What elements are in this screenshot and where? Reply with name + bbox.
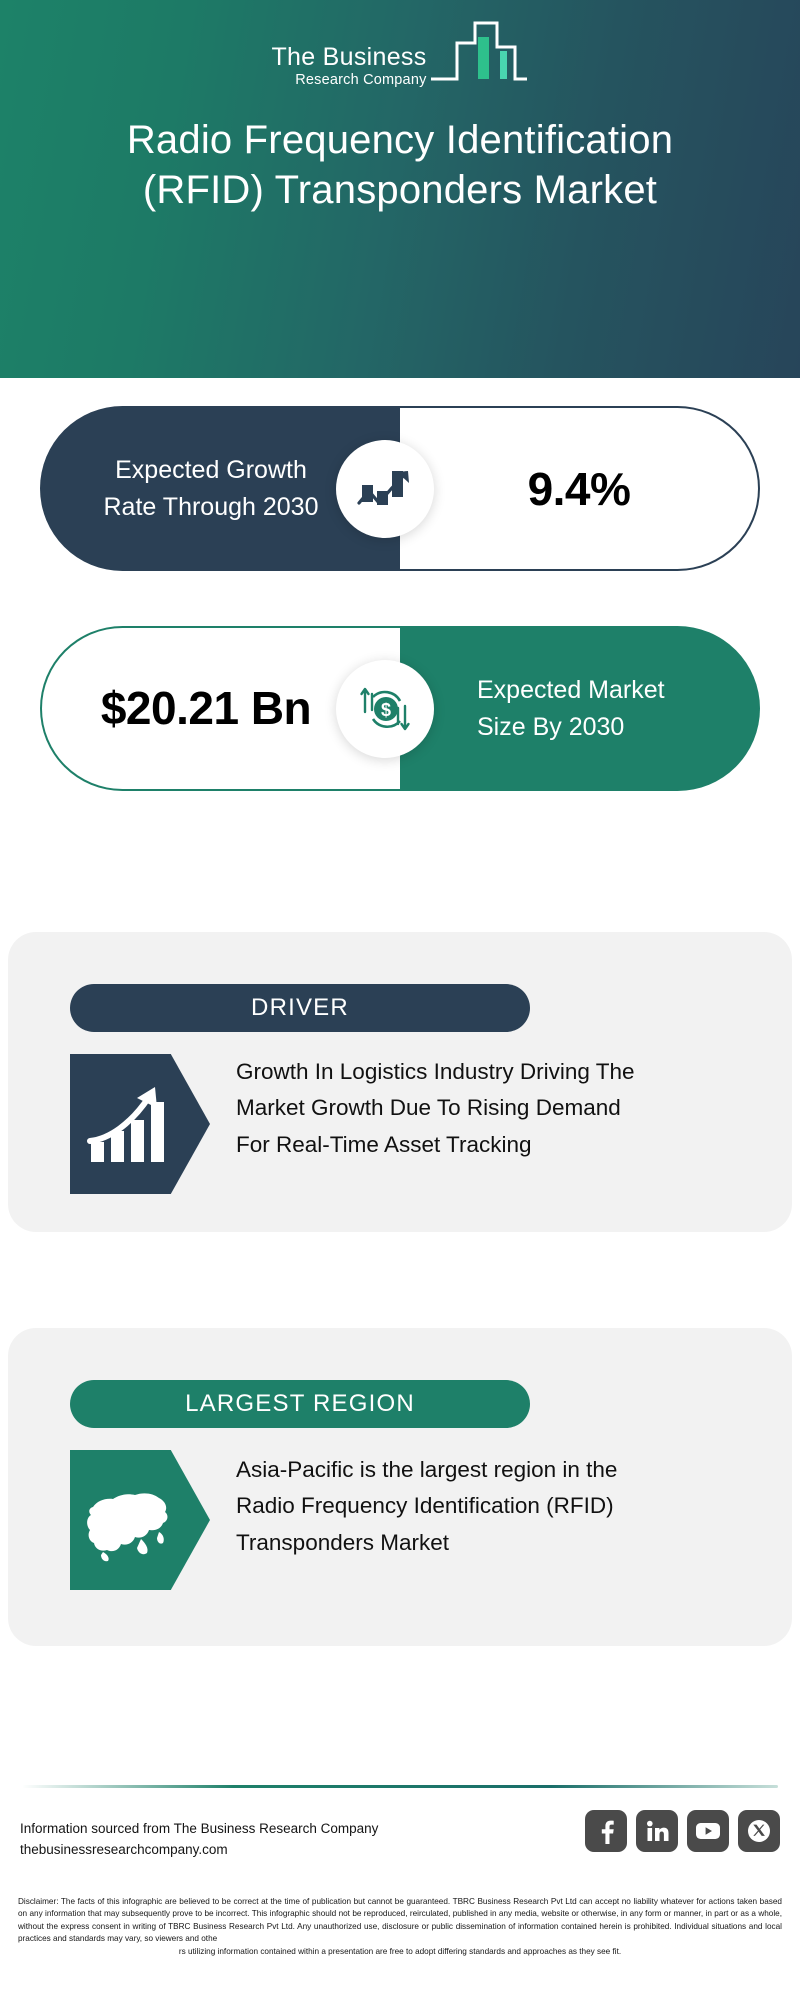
header-banner: The Business Research Company Radio Freq… xyxy=(0,0,800,378)
source-attribution: Information sourced from The Business Re… xyxy=(20,1818,378,1861)
logo-line-1: The Business xyxy=(271,45,426,70)
logo-wordmark: The Business Research Company xyxy=(271,45,426,93)
disclaimer-last-line: rs utilizing information contained withi… xyxy=(18,1946,782,1958)
social-links xyxy=(585,1810,780,1852)
stat-value: $20.21 Bn xyxy=(91,683,321,735)
bar-chart-logo-icon xyxy=(429,19,529,90)
source-website[interactable]: thebusinessresearchcompany.com xyxy=(20,1839,378,1860)
driver-pill: DRIVER xyxy=(70,984,530,1032)
largest-region-panel: LARGEST REGION Asia-Pacific is the large… xyxy=(8,1328,792,1646)
footer-divider xyxy=(22,1785,778,1788)
stat-label: Expected Growth Rate Through 2030 xyxy=(86,452,336,525)
source-line-1: Information sourced from The Business Re… xyxy=(20,1818,378,1839)
linkedin-icon[interactable] xyxy=(636,1810,678,1852)
stat-value-panel: 9.4% xyxy=(400,406,760,571)
stat-label: Expected Market Size By 2030 xyxy=(477,672,717,745)
disclaimer: Disclaimer: The facts of this infographi… xyxy=(18,1896,782,1958)
stat-value: 9.4% xyxy=(528,462,631,516)
driver-pill-label: DRIVER xyxy=(251,994,349,1022)
driver-body: Growth In Logistics Industry Driving The… xyxy=(70,1054,636,1194)
largest-region-pill: LARGEST REGION xyxy=(70,1380,530,1428)
asia-map-icon xyxy=(70,1450,210,1590)
facebook-icon[interactable] xyxy=(585,1810,627,1852)
disclaimer-main: Disclaimer: The facts of this infographi… xyxy=(18,1897,782,1943)
growth-chart-arrow-icon xyxy=(336,440,434,538)
logo-line-2: Research Company xyxy=(295,73,426,88)
stat-card-growth-rate: Expected Growth Rate Through 2030 9.4% xyxy=(40,406,760,571)
stat-card-market-size: $20.21 Bn Expected Market Size By 2030 $ xyxy=(40,626,760,791)
page-title: Radio Frequency Identification (RFID) Tr… xyxy=(70,116,730,215)
driver-panel: DRIVER Growth In Logistics Industry Driv… xyxy=(8,932,792,1232)
youtube-icon[interactable] xyxy=(687,1810,729,1852)
rising-bar-chart-icon xyxy=(70,1054,210,1194)
largest-region-body: Asia-Pacific is the largest region in th… xyxy=(70,1450,636,1590)
dollar-circulation-icon: $ xyxy=(336,660,434,758)
company-logo: The Business Research Company xyxy=(271,22,528,92)
largest-region-pill-label: LARGEST REGION xyxy=(185,1390,415,1418)
infographic-page: The Business Research Company Radio Freq… xyxy=(0,0,800,2000)
largest-region-text: Asia-Pacific is the largest region in th… xyxy=(236,1452,636,1561)
stat-label-panel: Expected Market Size By 2030 xyxy=(400,626,760,791)
driver-text: Growth In Logistics Industry Driving The… xyxy=(236,1054,636,1163)
x-twitter-icon[interactable] xyxy=(738,1810,780,1852)
svg-text:$: $ xyxy=(381,700,391,720)
